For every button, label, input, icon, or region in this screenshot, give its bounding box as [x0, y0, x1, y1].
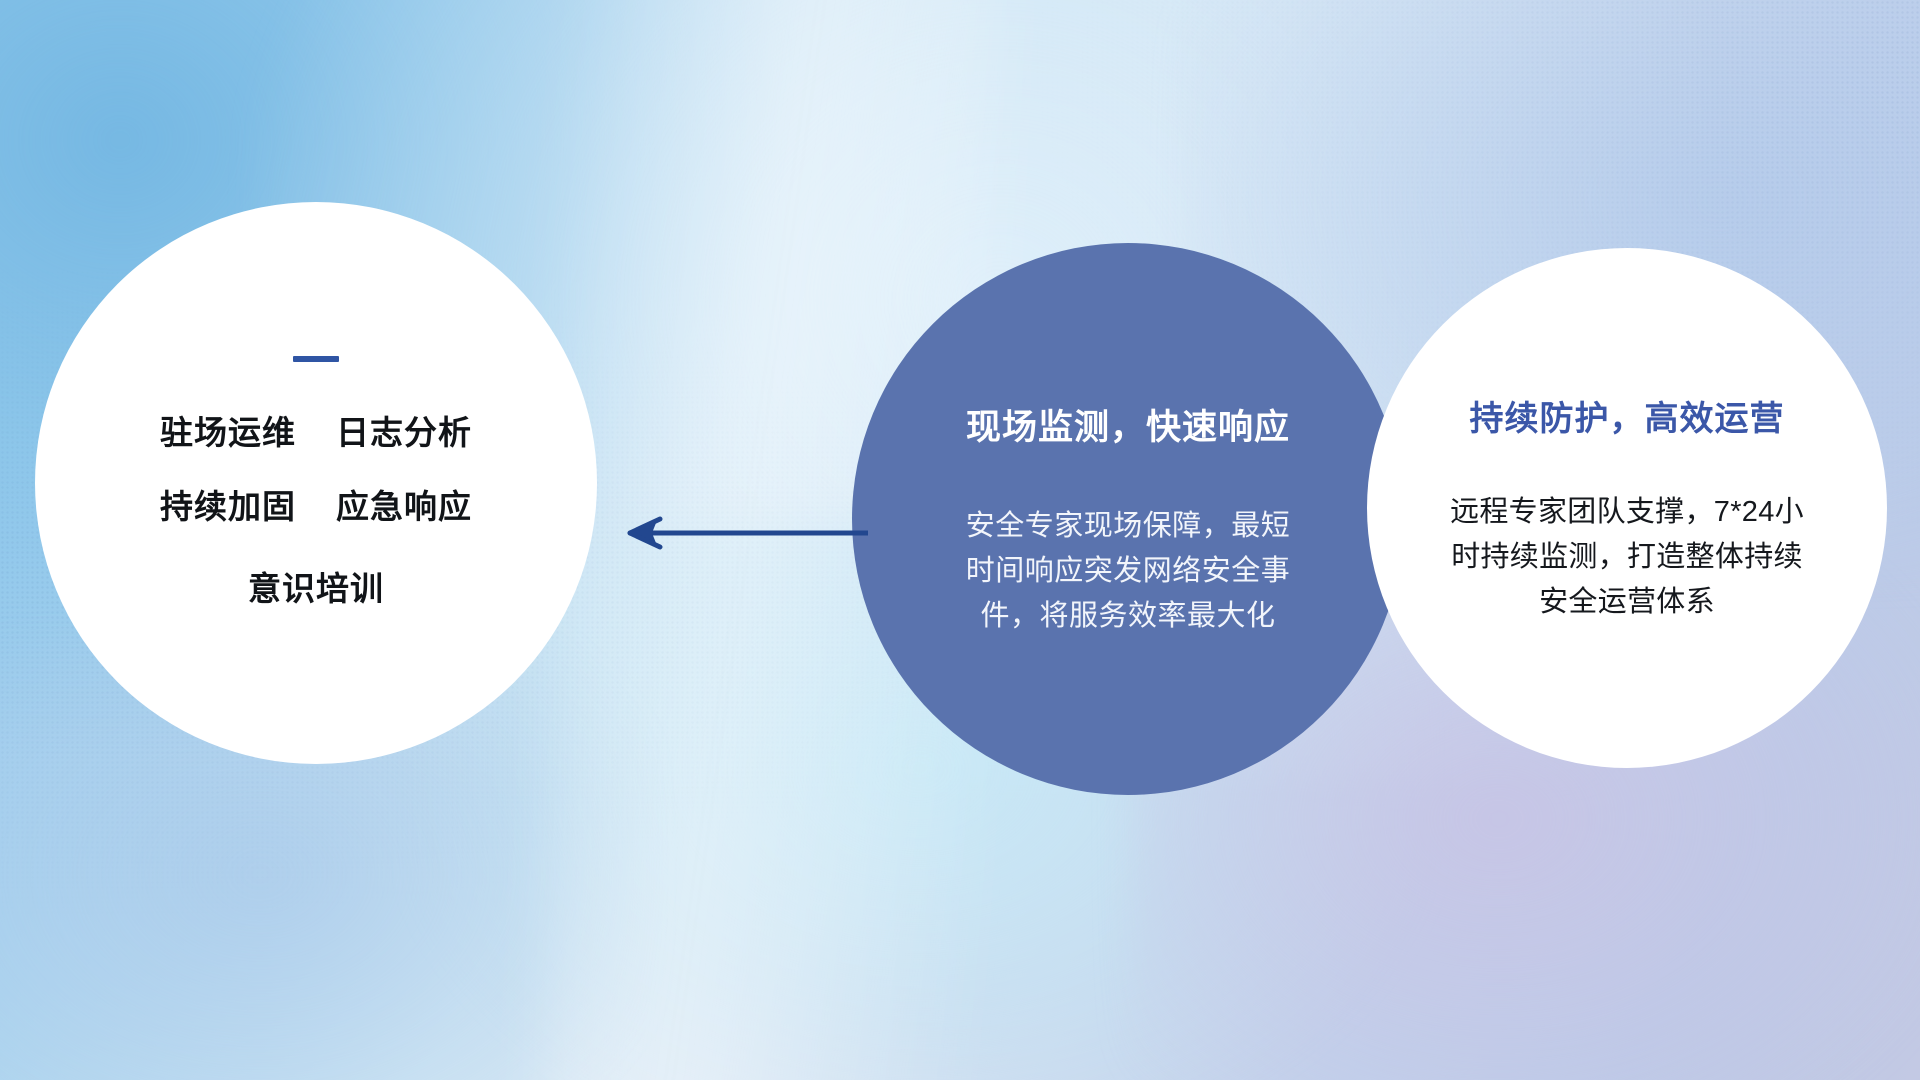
- capability-keyword-row: 驻场运维 日志分析: [160, 406, 472, 454]
- slide-canvas: 驻场运维 日志分析 持续加固 应急响应 意识培训 现场监测，快速响应 安全专家现…: [0, 0, 1920, 1080]
- onsite-circle-title: 现场监测，快速响应: [966, 399, 1290, 450]
- horizontal-dash-icon: [293, 356, 339, 362]
- capability-keyword-list: 驻场运维 日志分析 持续加固 应急响应 意识培训: [160, 406, 472, 610]
- remote-circle-title: 持续防护，高效运营: [1470, 391, 1785, 440]
- capability-keyword: 驻场运维: [160, 406, 296, 454]
- remote-circle-body: 远程专家团队支撑，7*24小时持续监测，打造整体持续安全运营体系: [1441, 490, 1813, 625]
- capability-keyword: 意识培训: [248, 562, 384, 610]
- service-circle-onsite[interactable]: 现场监测，快速响应 安全专家现场保障，最短时间响应突发网络安全事件，将服务效率最…: [852, 243, 1404, 795]
- capability-keyword: 持续加固: [160, 480, 296, 528]
- onsite-circle-body: 安全专家现场保障，最短时间响应突发网络安全事件，将服务效率最大化: [963, 504, 1293, 640]
- capability-keyword-row: 意识培训: [160, 562, 472, 610]
- capability-circle-left[interactable]: 驻场运维 日志分析 持续加固 应急响应 意识培训: [35, 202, 597, 764]
- capability-keyword: 日志分析: [336, 406, 472, 454]
- service-circle-remote[interactable]: 持续防护，高效运营 远程专家团队支撑，7*24小时持续监测，打造整体持续安全运营…: [1367, 248, 1887, 768]
- arrow-left-icon: [600, 506, 870, 560]
- capability-keyword: 应急响应: [336, 480, 472, 528]
- capability-keyword-row: 持续加固 应急响应: [160, 480, 472, 528]
